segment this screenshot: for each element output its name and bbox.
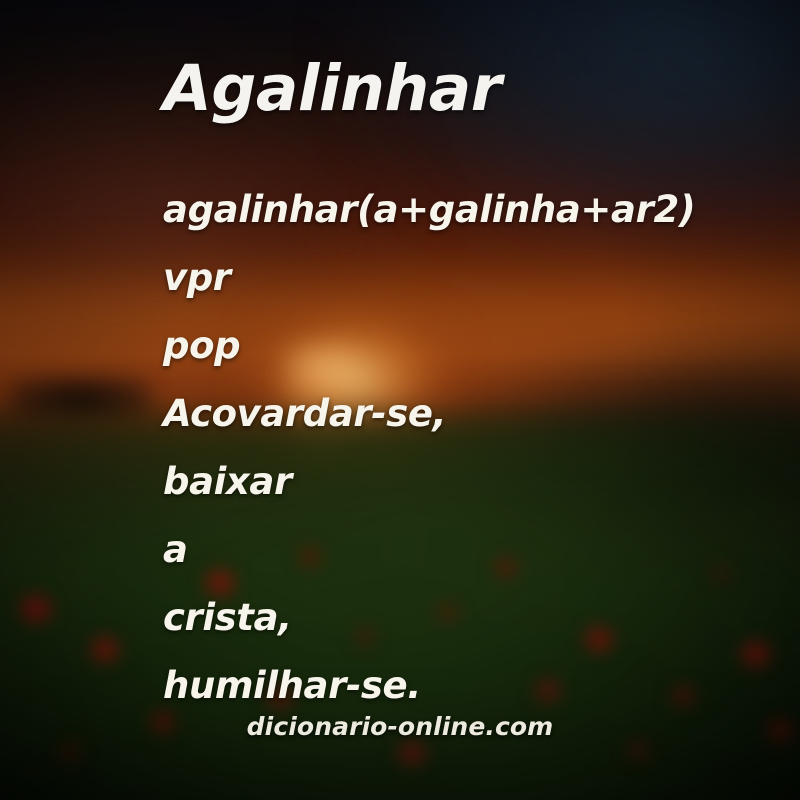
site-attribution: dicionario-online.com (0, 712, 800, 741)
definition-line: agalinhar(a+galinha+ar2) (163, 176, 783, 244)
definition-line: Acovardar-se, (163, 380, 783, 448)
definition-line: humilhar-se. (163, 652, 783, 720)
page-title: Agalinhar (163, 52, 501, 125)
definition-line: baixar (163, 448, 783, 516)
card-content: Agalinhar agalinhar(a+galinha+ar2)vprpop… (0, 0, 800, 800)
definition-line: pop (163, 312, 783, 380)
definition-block: agalinhar(a+galinha+ar2)vprpopAcovardar-… (163, 176, 783, 720)
definition-line: crista, (163, 584, 783, 652)
definition-line: a (163, 516, 783, 584)
definition-line: vpr (163, 244, 783, 312)
dictionary-card: Agalinhar agalinhar(a+galinha+ar2)vprpop… (0, 0, 800, 800)
